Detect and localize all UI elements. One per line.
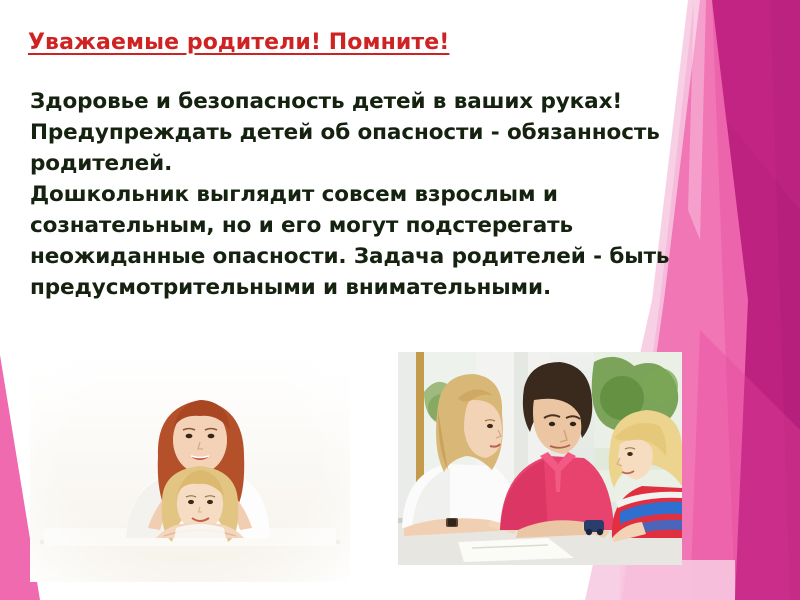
pink-overlay-upper [712,0,800,210]
body-line: родителей. [30,148,690,179]
magenta-band-inner [770,0,800,600]
body-line: предусмотрительными и внимательными. [30,272,690,303]
magenta-band-right [712,0,800,600]
pink-facet-top [688,0,706,240]
body-line: сознательным, но и его могут подстерегат… [30,210,690,241]
body-line: Здоровье и безопасность детей в ваших ру… [30,86,690,117]
pink-overlay-lower [690,330,800,600]
presentation-slide: Уважаемые родители! Помните! Здоровье и … [0,0,800,600]
mother-and-daughter-photo [30,352,350,582]
page-title: Уважаемые родители! Помните! [28,30,449,55]
body-line: Дошкольник выглядит совсем взрослым и [30,179,690,210]
body-line: Предупреждать детей об опасности - обяза… [30,117,690,148]
body-text-block: Здоровье и безопасность детей в ваших ру… [30,86,690,303]
pale-pink-block-bottom [620,560,735,600]
body-line: неожиданные опасности. Задача родителей … [30,241,690,272]
family-with-son-photo [398,352,682,565]
